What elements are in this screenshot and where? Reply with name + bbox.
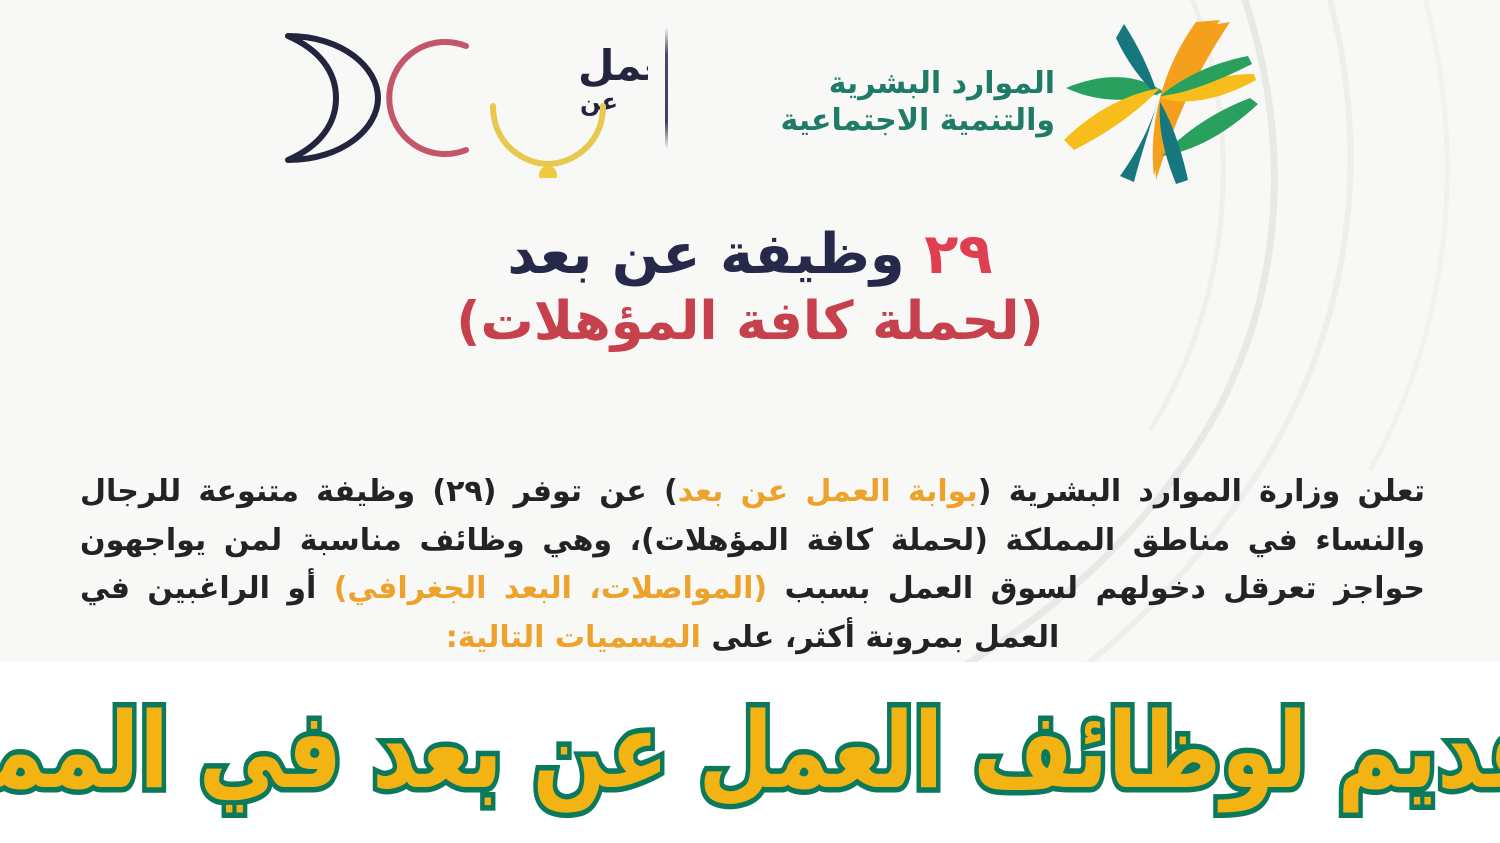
headline-line-1-rest: وظيفة عن بعد bbox=[507, 222, 924, 287]
ministry-name-line2: والتنمية الاجتماعية bbox=[755, 103, 1055, 140]
body-segment-1: بوابة العمل عن بعد bbox=[678, 474, 978, 509]
ministry-logo: الموارد البشرية والتنمية الاجتماعية bbox=[730, 16, 1250, 186]
announcement-panel: العمل عن الموارد البشرية والتنمي bbox=[0, 0, 1500, 662]
announcement-body: تعلن وزارة الموارد البشرية (بوابة العمل … bbox=[80, 468, 1425, 662]
ministry-palm-star-icon bbox=[1060, 16, 1260, 186]
svg-text:العمل: العمل bbox=[578, 41, 648, 90]
svg-text:عن: عن bbox=[580, 88, 618, 116]
open-circle-icon bbox=[389, 42, 466, 154]
body-segment-3: (المواصلات، البعد الجغرافي) bbox=[334, 571, 767, 606]
yellow-dot-icon bbox=[539, 166, 557, 178]
headline: ٢٩ وظيفة عن بعد (لحملة كافة المؤهلات) bbox=[0, 222, 1500, 354]
logo-divider bbox=[665, 27, 668, 149]
crescent-moon-icon bbox=[288, 36, 378, 160]
headline-line-1: ٢٩ وظيفة عن بعد bbox=[0, 222, 1500, 288]
body-segment-0: تعلن وزارة الموارد البشرية ( bbox=[978, 474, 1425, 509]
job-count: ٢٩ bbox=[924, 222, 992, 287]
banner-headline: التقديم لوظائف العمل عن بعد في المملكة bbox=[0, 687, 1500, 818]
headline-line-2: (لحملة كافة المؤهلات) bbox=[0, 290, 1500, 354]
logo-row: العمل عن الموارد البشرية والتنمي bbox=[0, 0, 1500, 190]
ministry-name-line1: الموارد البشرية bbox=[755, 66, 1055, 103]
bottom-banner: التقديم لوظائف العمل عن بعد في المملكة bbox=[0, 662, 1500, 843]
ministry-wordmark: الموارد البشرية والتنمية الاجتماعية bbox=[755, 66, 1055, 139]
remote-work-logo: العمل عن bbox=[248, 18, 648, 178]
poster-root: العمل عن الموارد البشرية والتنمي bbox=[0, 0, 1500, 843]
body-segment-5: المسميات التالية: bbox=[446, 620, 701, 655]
remote-work-wordmark: العمل عن bbox=[578, 41, 648, 116]
